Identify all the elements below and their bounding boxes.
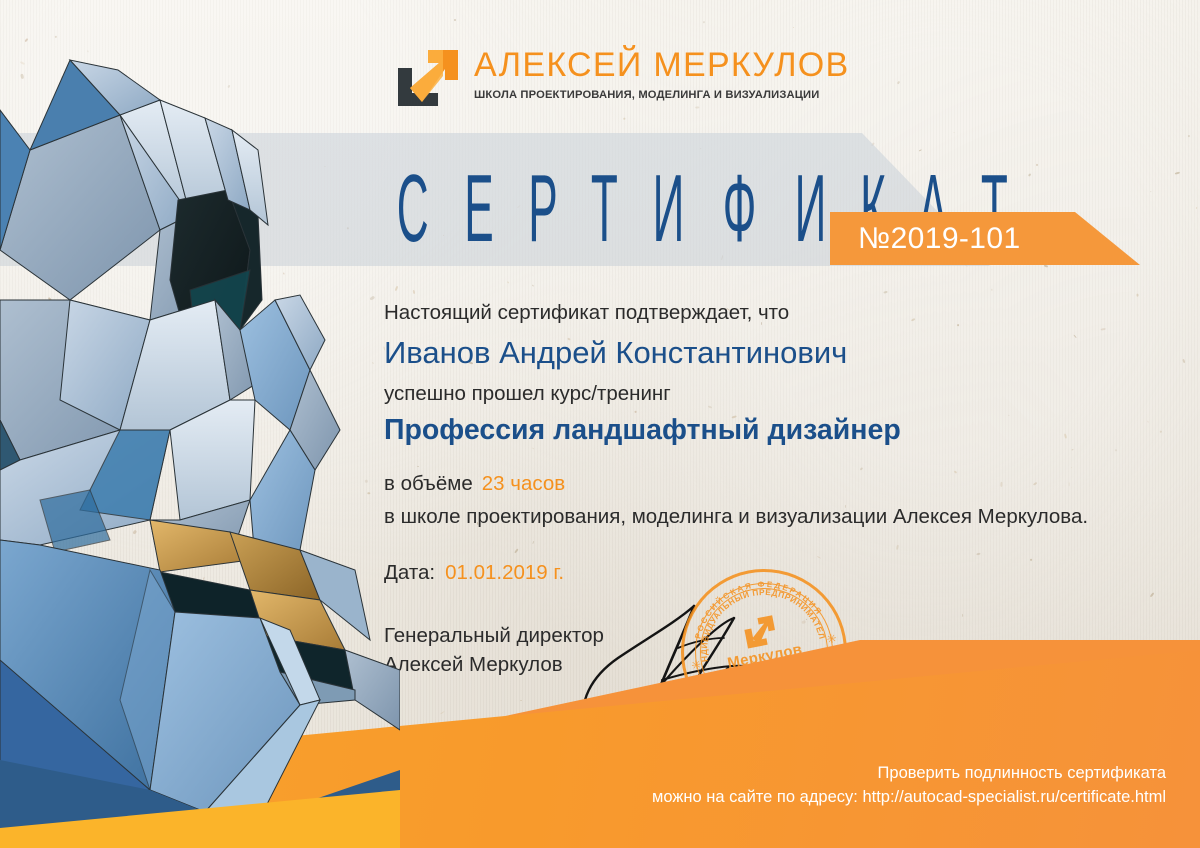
brand-logo: АЛЕКСЕЙ МЕРКУЛОВ ШКОЛА ПРОЕКТИРОВАНИЯ, М…: [392, 46, 850, 110]
recipient-name: Иванов Андрей Константинович: [384, 334, 1174, 371]
completed-line: успешно прошел курс/тренинг: [384, 381, 1174, 407]
title-letter-6: И: [795, 165, 827, 253]
crystal-artwork: [0, 0, 400, 848]
course-name: Профессия ландшафтный дизайнер: [384, 413, 1174, 447]
certificate-canvas: АЛЕКСЕЙ МЕРКУЛОВ ШКОЛА ПРОЕКТИРОВАНИЯ, М…: [0, 0, 1200, 848]
footer-line-1: Проверить подлинность сертификата: [652, 761, 1166, 786]
brand-name: АЛЕКСЕЙ МЕРКУЛОВ: [474, 48, 850, 82]
title-letter-0: С: [397, 165, 429, 253]
school-line: в школе проектирования, моделинга и визу…: [384, 505, 1174, 529]
stamp-star-right: ✳: [826, 632, 838, 646]
title-letter-2: Р: [529, 165, 558, 253]
stamp-star-left: ✳: [690, 658, 702, 672]
page-title: СЕРТИФИКАТ: [378, 143, 838, 253]
title-letter-4: И: [653, 165, 685, 253]
volume-line: в объёме23 часов: [384, 472, 1174, 496]
certificate-number-text: №2019-101: [858, 222, 1021, 256]
brand-logo-text: АЛЕКСЕЙ МЕРКУЛОВ ШКОЛА ПРОЕКТИРОВАНИЯ, М…: [474, 46, 850, 101]
footer-line-2: можно на сайте по адресу: http://autocad…: [652, 785, 1166, 810]
orange-arrow-logo-icon: [392, 46, 464, 110]
brand-tagline: ШКОЛА ПРОЕКТИРОВАНИЯ, МОДЕЛИНГА И ВИЗУАЛ…: [474, 89, 850, 101]
verification-footer: Проверить подлинность сертификата можно …: [652, 761, 1166, 811]
title-letter-3: Т: [591, 165, 618, 253]
date-value: 01.01.2019 г.: [445, 561, 564, 584]
intro-line: Настоящий сертификат подтверждает, что: [384, 300, 1174, 326]
volume-value: 23 часов: [482, 472, 565, 495]
title-letter-5: Ф: [723, 165, 757, 253]
title-letter-1: Е: [465, 165, 494, 253]
stamp-logo-icon: [739, 612, 781, 651]
